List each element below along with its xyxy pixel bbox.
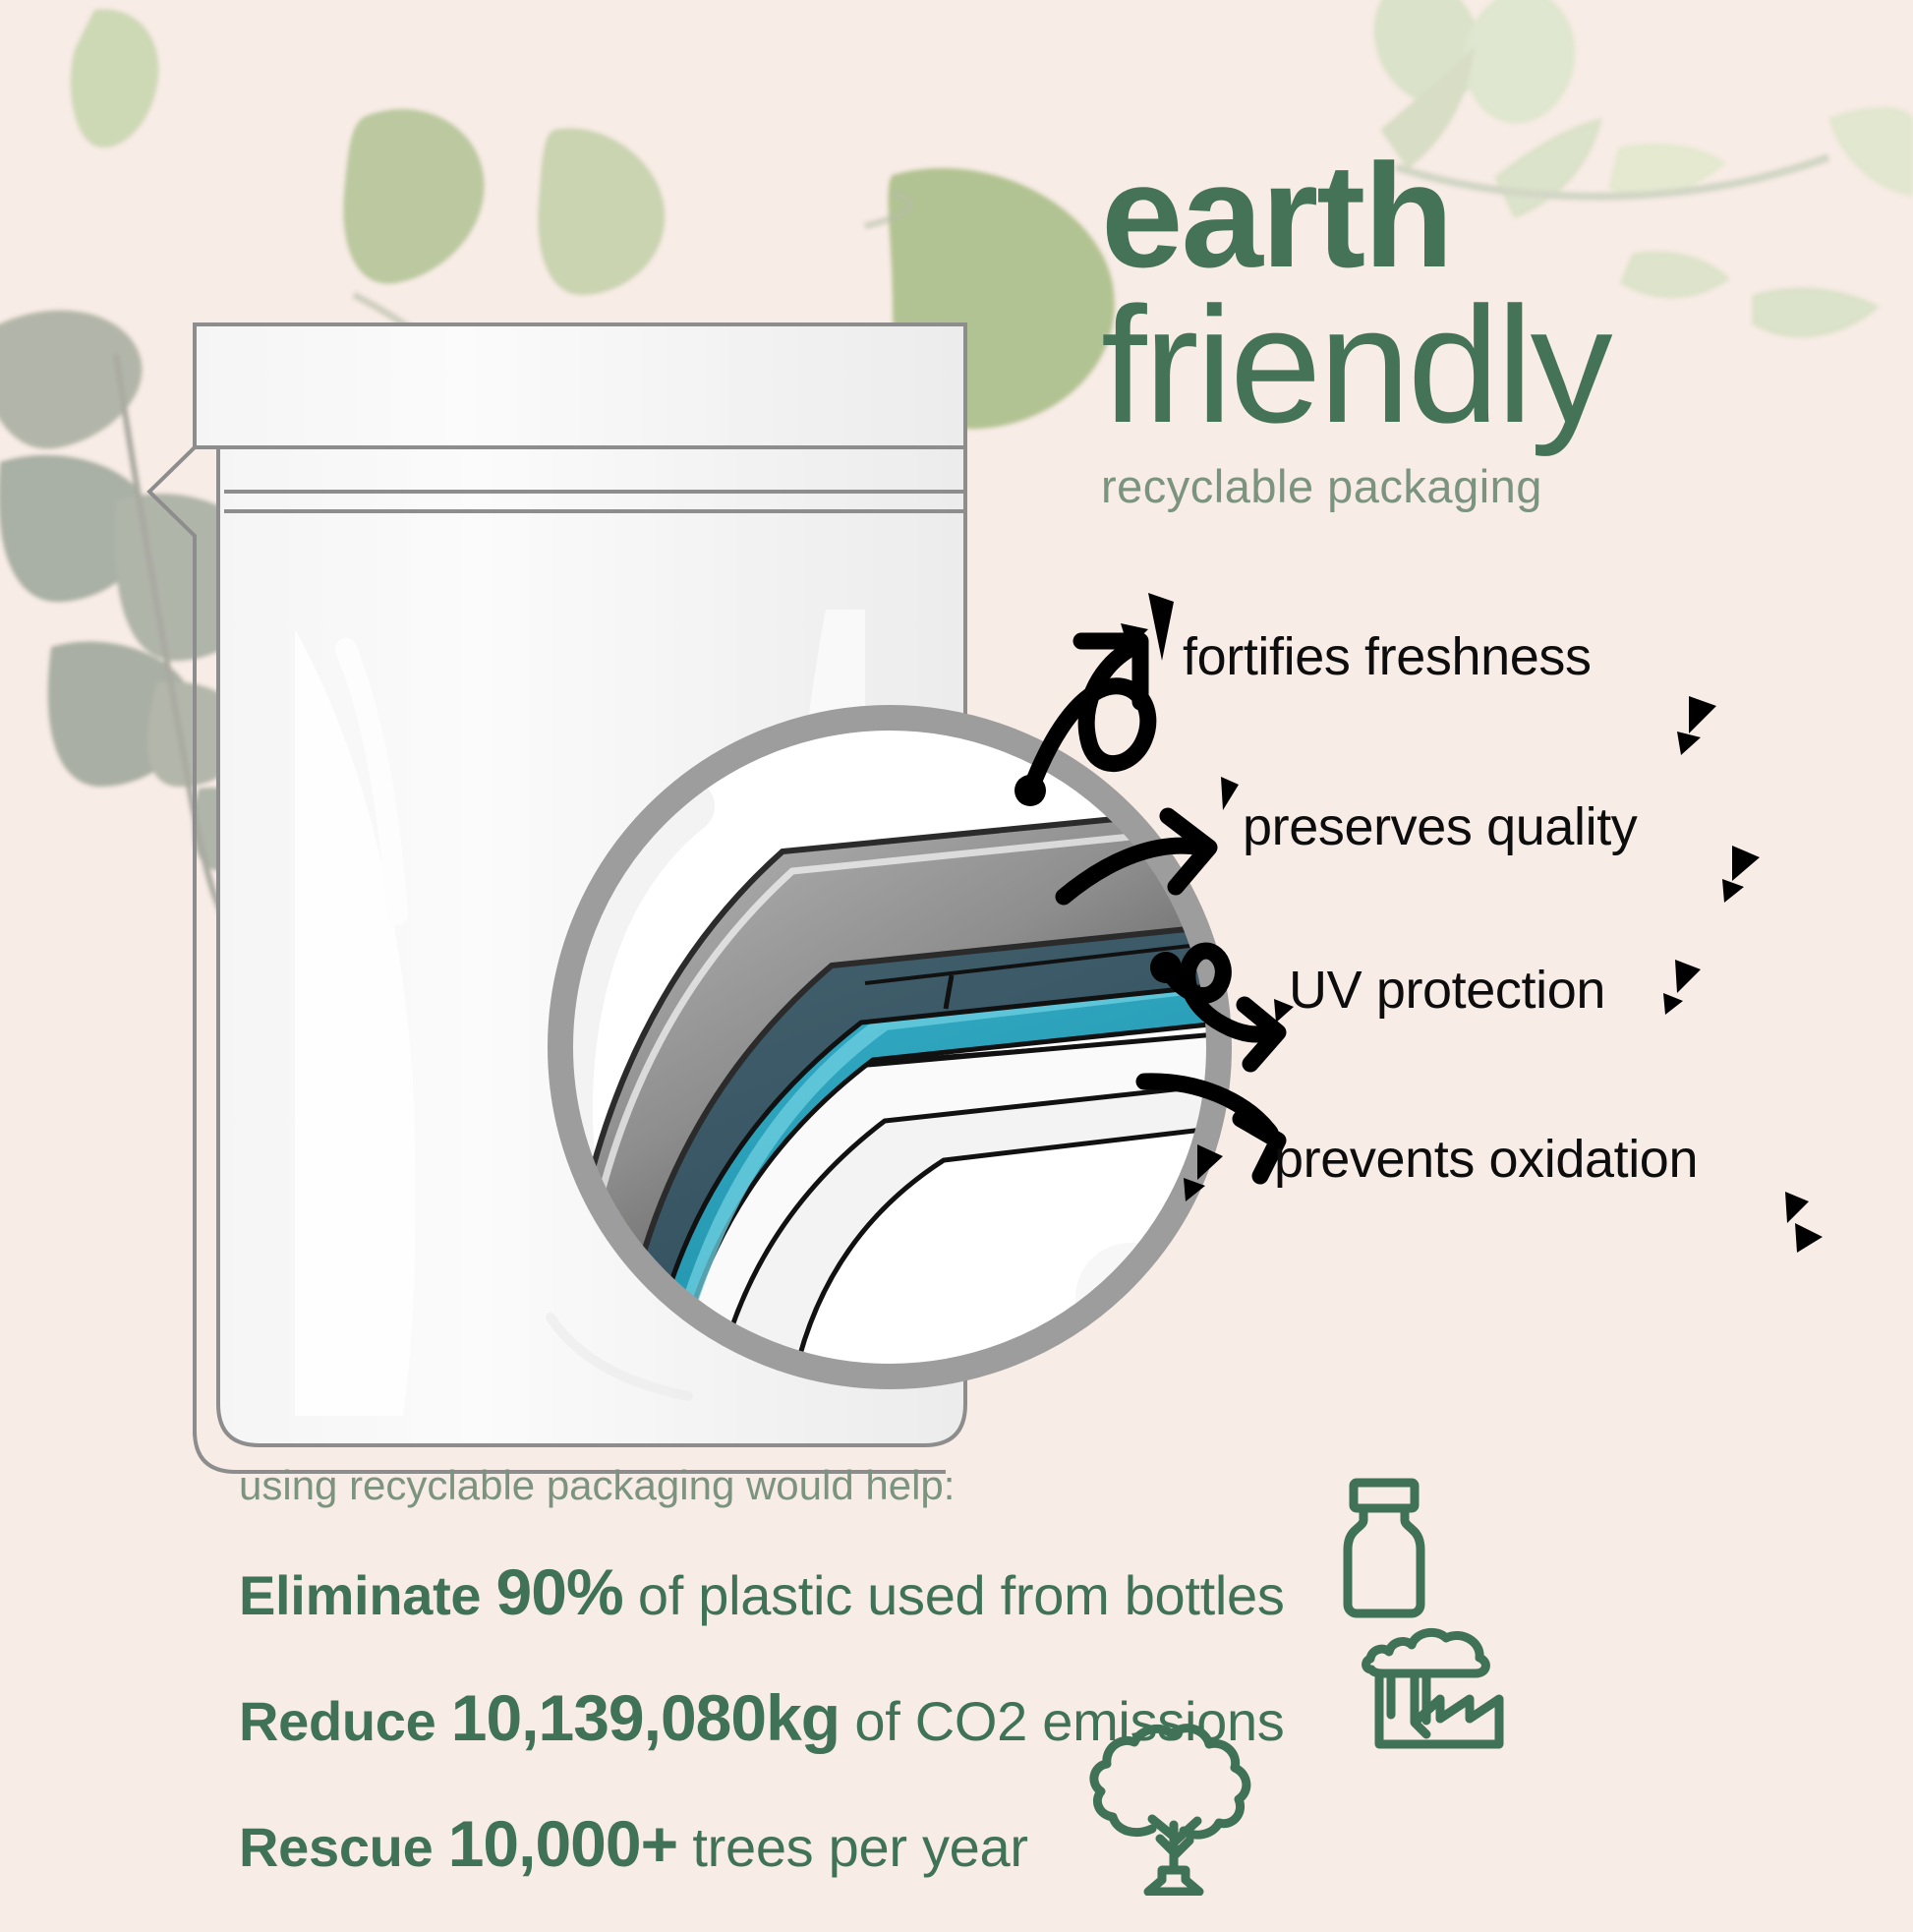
feature-label-prevents-oxidation: prevents oxidation — [1274, 1129, 1698, 1190]
title-line-earth: earth — [1101, 147, 1887, 283]
factory-icon — [1360, 1605, 1507, 1750]
stat-row: Rescue 10,000+ trees per year — [239, 1806, 1615, 1881]
feature-label-preserves-quality: preserves quality — [1243, 796, 1637, 857]
feature-label-fortifies-freshness: fortifies freshness — [1183, 626, 1592, 687]
stat-verb: Reduce — [239, 1690, 436, 1752]
title-line-friendly: friendly — [1101, 289, 1887, 441]
bottle-icon — [1322, 1475, 1450, 1622]
stat-value: 90% — [496, 1555, 623, 1628]
stat-verb: Eliminate — [239, 1564, 481, 1626]
curved-arrow-loop-icon-3 — [1150, 951, 1278, 1064]
tree-icon — [1079, 1723, 1266, 1896]
stat-verb: Rescue — [239, 1816, 433, 1878]
infographic-canvas: earth friendly recyclable packaging fort… — [0, 0, 1913, 1914]
curved-arrow-icon-2 — [1064, 816, 1209, 897]
stat-rest: trees per year — [692, 1816, 1027, 1878]
stat-value: 10,139,080kg — [451, 1681, 840, 1754]
headline-subtitle: recyclable packaging — [1101, 459, 1887, 513]
headline-block: earth friendly recyclable packaging — [1101, 147, 1887, 513]
stat-rest: of plastic used from bottles — [638, 1564, 1285, 1626]
stat-value: 10,000+ — [448, 1807, 677, 1880]
feature-label-uv-protection: UV protection — [1289, 960, 1605, 1021]
curved-arrow-loop-icon-1 — [1014, 641, 1148, 806]
